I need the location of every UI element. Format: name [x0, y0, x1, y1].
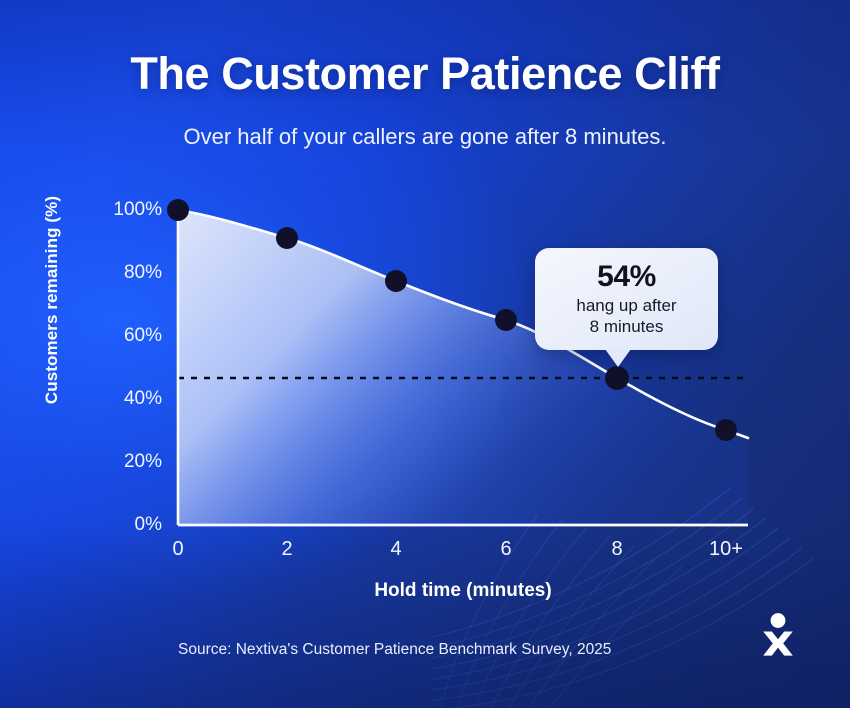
x-tick-10: 10+: [686, 538, 766, 561]
data-point-10min: [715, 419, 737, 441]
callout-text-line1: hang up after: [576, 296, 676, 315]
x-axis-label: Hold time (minutes): [178, 580, 748, 602]
y-tick-40: 40%: [82, 388, 162, 410]
y-tick-20: 20%: [82, 451, 162, 473]
y-tick-80: 80%: [82, 262, 162, 284]
data-point-0min: [167, 199, 189, 221]
callout-bubble: 54% hang up after 8 minutes: [535, 248, 718, 350]
source-attribution: Source: Nextiva's Customer Patience Benc…: [178, 641, 611, 659]
callout-value: 54%: [545, 260, 708, 293]
data-point-8min: [605, 366, 629, 390]
infographic-canvas: The Customer Patience Cliff Over half of…: [0, 0, 850, 708]
x-tick-2: 2: [247, 538, 327, 561]
x-tick-8: 8: [577, 538, 657, 561]
callout-text: hang up after 8 minutes: [545, 296, 708, 337]
data-point-4min: [385, 270, 407, 292]
data-point-6min: [495, 309, 517, 331]
y-tick-60: 60%: [82, 325, 162, 347]
y-axis-label: Customers remaining (%): [42, 190, 62, 410]
y-tick-0: 0%: [82, 514, 162, 536]
nextiva-logo-icon: [758, 612, 798, 656]
y-tick-100: 100%: [82, 199, 162, 221]
x-tick-4: 4: [356, 538, 436, 561]
x-tick-0: 0: [138, 538, 218, 561]
callout-pointer: [605, 349, 631, 367]
x-tick-6: 6: [466, 538, 546, 561]
callout-text-line2: 8 minutes: [590, 317, 664, 336]
data-point-2min: [276, 227, 298, 249]
